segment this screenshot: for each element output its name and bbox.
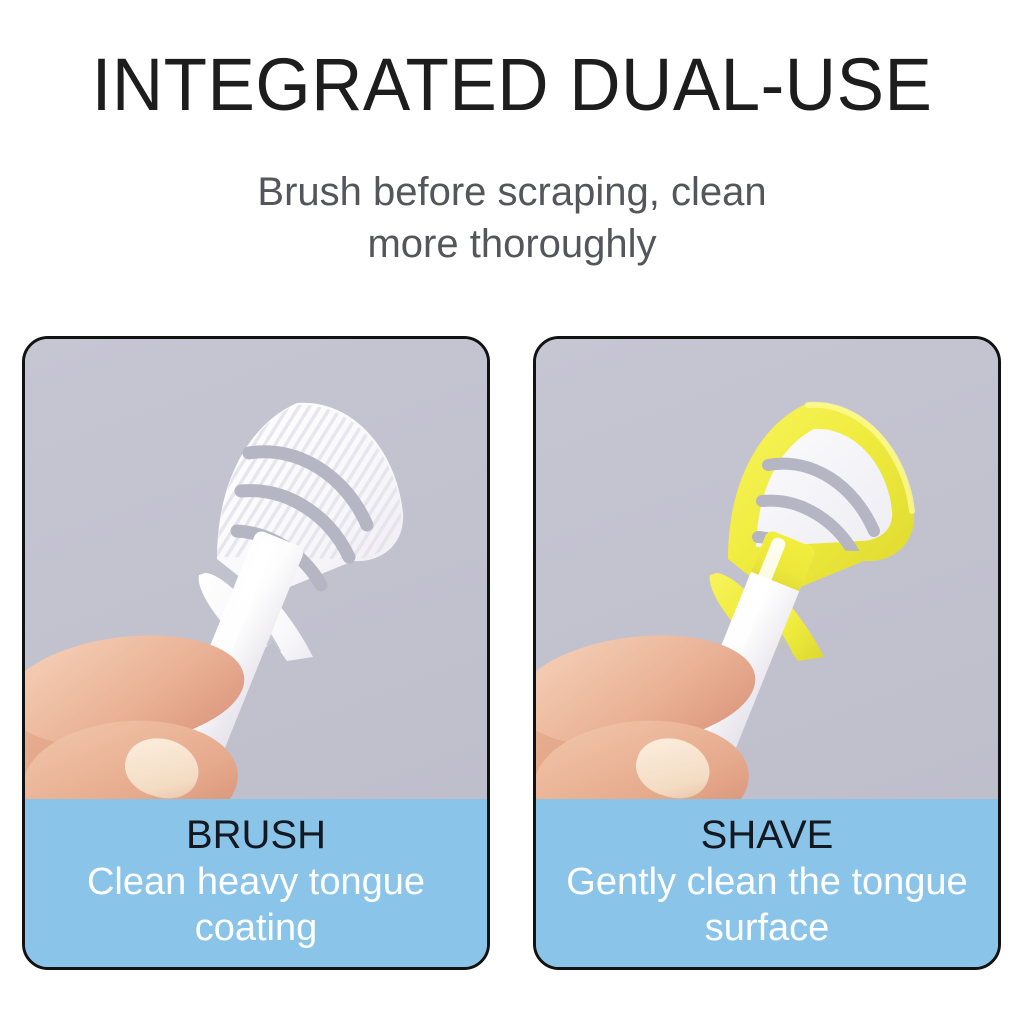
caption-title-brush: BRUSH xyxy=(25,811,487,859)
hand-holding-brush xyxy=(25,635,295,805)
caption-shave: SHAVE Gently clean the tongue surface xyxy=(536,799,998,967)
page-title: INTEGRATED DUAL-USE xyxy=(20,48,1003,122)
page-subtitle: Brush before scraping, clean more thorou… xyxy=(182,166,842,270)
product-card-brush[interactable]: BRUSH Clean heavy tongue coating xyxy=(22,336,490,970)
subtitle-line-2: more thoroughly xyxy=(182,218,842,270)
scraper-head-icon xyxy=(656,361,956,661)
caption-desc-brush-line-2: coating xyxy=(25,905,487,951)
caption-title-shave: SHAVE xyxy=(536,811,998,859)
caption-desc-brush-line-1: Clean heavy tongue xyxy=(25,859,487,905)
header: INTEGRATED DUAL-USE Brush before scrapin… xyxy=(0,0,1024,270)
product-photo-brush xyxy=(25,339,487,805)
hand-holding-scraper xyxy=(536,635,806,805)
scraper-head xyxy=(656,361,956,661)
brush-head-icon xyxy=(145,361,445,661)
caption-desc-shave-line-1: Gently clean the tongue xyxy=(536,859,998,905)
caption-desc-shave-line-2: surface xyxy=(536,905,998,951)
caption-brush: BRUSH Clean heavy tongue coating xyxy=(25,799,487,967)
brush-head xyxy=(145,361,445,661)
product-cards: BRUSH Clean heavy tongue coating xyxy=(0,336,1024,976)
product-card-shave[interactable]: SHAVE Gently clean the tongue surface xyxy=(533,336,1001,970)
product-photo-shave xyxy=(536,339,998,805)
subtitle-line-1: Brush before scraping, clean xyxy=(182,166,842,218)
